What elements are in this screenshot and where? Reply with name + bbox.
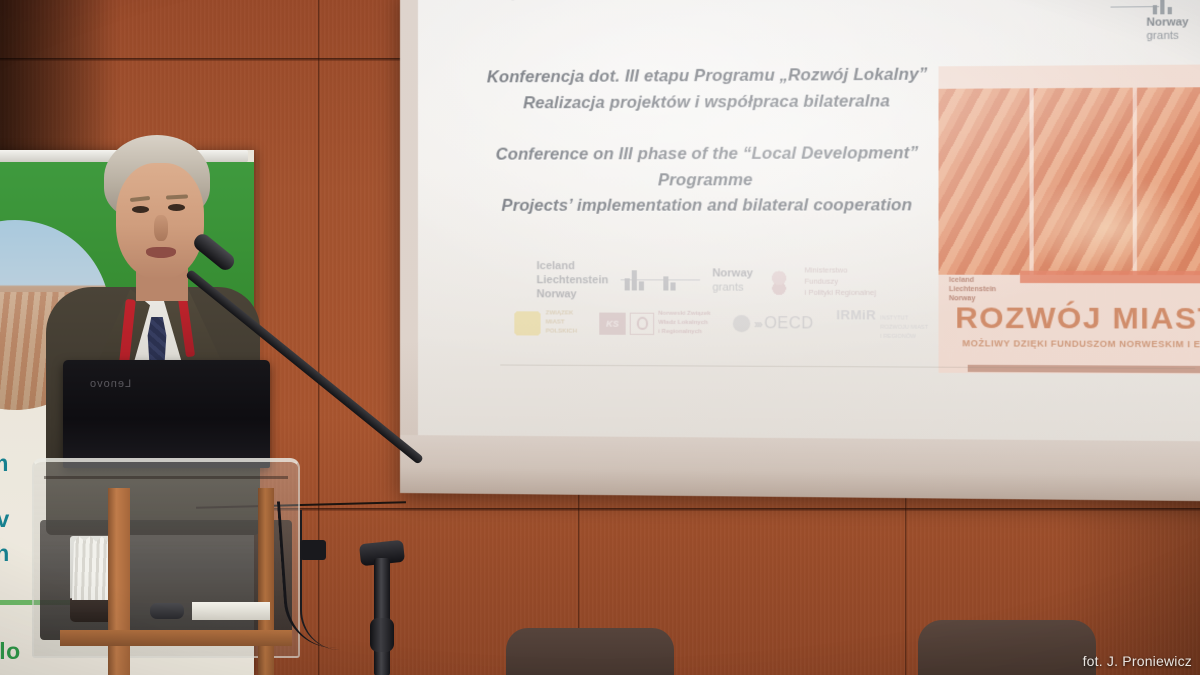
speaker-nose	[154, 215, 168, 241]
slide-title-pl-line2: Realizacja projektów i współpraca bilate…	[442, 88, 974, 117]
grants-bars-icon	[620, 268, 700, 294]
ks-line1: Norweski Związek	[658, 310, 710, 319]
topright-grants-label: grants	[1146, 29, 1200, 42]
logo-norway2-label: Norway	[712, 267, 753, 279]
grants-norway-label: Norway	[474, 0, 555, 1]
logo-norway-label: Norway	[537, 288, 609, 302]
irmir-wordmark: INSTYTUT ROZWOJU MIAST I REGIONÓW	[880, 314, 928, 341]
zmp-mark-icon	[514, 311, 540, 335]
screen-bottom-casing	[400, 435, 1200, 501]
projected-slide: Liechtenstein Norway Norway grants Konfe…	[418, 0, 1200, 441]
zmp-line1: ZWIĄZEK	[546, 310, 577, 319]
rollup-text-fragment-1: m	[0, 450, 9, 477]
irmir-mark: IRMiR	[836, 307, 876, 322]
zmp-line2: MIAST	[546, 319, 577, 328]
oecd-waves-icon: ›››	[754, 316, 761, 331]
panel-subtitle: MOŻLIWY DZIĘKI FUNDUSZOM NORWESKIM I EOG	[939, 338, 1200, 349]
logo-liechtenstein-label: Liechtenstein	[537, 274, 609, 288]
irmir-line1: INSTYTUT	[880, 314, 928, 323]
topright-norway-label: Norway	[1146, 16, 1200, 30]
podium-wooden-post-left	[108, 488, 130, 675]
slide-title-en-line3: Projects’ implementation and bilateral c…	[442, 193, 974, 220]
podium-lower-shelf	[60, 630, 292, 646]
ks-wordmark: Norweski Związek Władz Lokalnych i Regio…	[658, 310, 710, 337]
audio-cable-secondary	[300, 510, 360, 650]
slide-title-pl-line1: Konferencja dot. III etapu Programu „Roz…	[442, 62, 974, 91]
speaker-eye-left	[132, 206, 149, 213]
panel-liechtenstein-label: Liechtenstein	[949, 286, 996, 295]
oecd-logo: ››› OECD	[733, 315, 813, 334]
slide-title-spacer	[442, 114, 974, 143]
irmir-line2: ROZWOJU MIAST	[880, 323, 928, 332]
panel-grants-logo: Iceland Liechtenstein Norway	[949, 277, 996, 304]
speaker-eye-right	[168, 204, 185, 211]
polish-eagle-icon	[765, 266, 792, 296]
slide-partner-logos-row: ZWIĄZEK MIAST POLSKICH KS Norweski Związ…	[514, 306, 928, 341]
presentation-clicker[interactable]	[150, 603, 184, 619]
ks-line2: Władz Lokalnych	[658, 319, 710, 328]
rollup-text-fragment-2: ov	[0, 506, 10, 533]
photo-credit: fot. J. Proniewicz	[1083, 653, 1192, 669]
ministry-line1: Ministerstwo	[804, 264, 876, 276]
irmir-logo: IRMiR INSTYTUT ROZWOJU MIAST I REGIONÓW	[836, 307, 928, 341]
laptop-brand-logo: Lenovo	[89, 378, 131, 390]
conference-photo: Liechtenstein Norway Norway grants Konfe…	[0, 0, 1200, 675]
cable-connector-box	[300, 540, 326, 560]
ks-mark-icon: KS	[599, 312, 625, 334]
slide-title-block: Konferencja dot. III etapu Programu „Roz…	[442, 62, 974, 220]
speaker-mouth	[146, 247, 176, 258]
rollup-text-fragment-3: ch	[0, 540, 10, 567]
oecd-wordmark: OECD	[764, 315, 814, 333]
ministry-line3: i Polityki Regionalnej	[804, 287, 876, 299]
rollup-text-fragment-4: elo	[0, 638, 21, 665]
zmp-line3: POLSKICH	[546, 328, 577, 337]
laptop-lid: Lenovo	[63, 360, 270, 468]
slide-topleft-grants-logo: Liechtenstein Norway	[474, 0, 555, 1]
oecd-globe-icon	[733, 315, 750, 332]
ks-symbol-icon	[630, 312, 654, 334]
chair-back-left	[506, 628, 674, 675]
ks-line3: i Regionalnych	[658, 328, 710, 337]
norway-grants-bars-icon	[1146, 0, 1200, 14]
projection-screen: Liechtenstein Norway Norway grants Konfe…	[400, 0, 1200, 501]
logo-norway2-grants-label: grants	[712, 281, 753, 295]
podium-wooden-post-right	[258, 488, 274, 675]
aerial-cityscape-photo	[939, 87, 1200, 275]
ministry-wordmark: Ministerstwo Funduszy i Polityki Regiona…	[804, 264, 876, 298]
zmp-wordmark: ZWIĄZEK MIAST POLSKICH	[546, 310, 577, 337]
eea-grants-wordmark: Iceland Liechtenstein Norway	[537, 260, 609, 302]
stack-of-papers	[192, 602, 270, 620]
ministry-line2: Funduszy	[804, 276, 876, 288]
panel-iceland-label: Iceland	[949, 277, 996, 286]
zwiazek-miast-polskich-logo: ZWIĄZEK MIAST POLSKICH	[514, 310, 577, 337]
norway-grants-wordmark: Norway grants	[712, 267, 753, 295]
irmir-line3: I REGIONÓW	[880, 332, 928, 341]
panel-accent-bar	[1020, 271, 1200, 284]
logo-iceland-label: Iceland	[537, 260, 609, 274]
chair-back-right	[918, 620, 1096, 675]
slide-main-logos-row: Iceland Liechtenstein Norway Norway gran…	[537, 260, 876, 302]
slide-topright-norway-grants-logo: Norway grants	[1146, 0, 1200, 43]
panel-title-rozwoj-miast: ROZWÓJ MIAST	[939, 301, 1200, 337]
ks-norwegian-association-logo: KS Norweski Związek Władz Lokalnych i Re…	[599, 310, 710, 338]
slide-title-en-line2: Programme	[442, 167, 974, 194]
slide-title-en-line1: Conference on III phase of the “Local De…	[442, 141, 974, 169]
slide-city-photo-panel: Iceland Liechtenstein Norway ROZWÓJ MIAS…	[939, 64, 1200, 374]
